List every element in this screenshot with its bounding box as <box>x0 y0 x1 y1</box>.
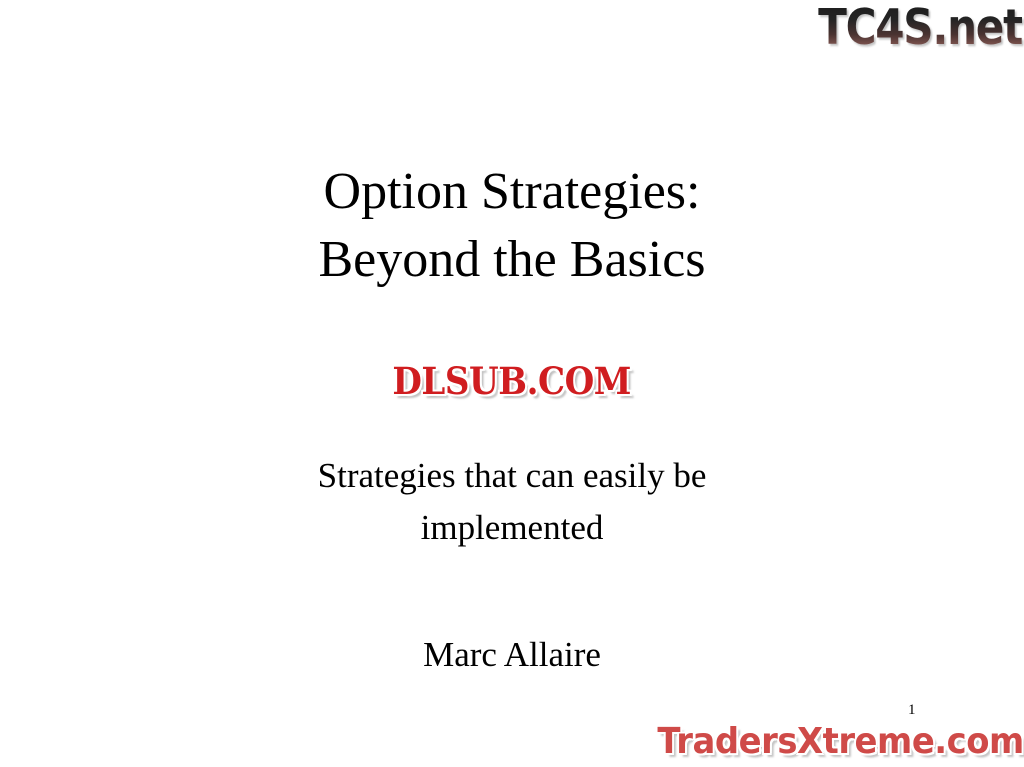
dlsub-watermark-logo[interactable]: DLSUB.COM <box>0 360 1024 402</box>
slide-subtitle-line-1: Strategies that can easily be <box>0 450 1024 502</box>
tradersxtreme-watermark-text: TradersXtreme.com <box>658 720 1024 764</box>
tc4s-watermark-logo[interactable]: TC4S.net <box>818 1 1022 55</box>
presentation-slide: TC4S.net Option Strategies: Beyond the B… <box>0 0 1024 767</box>
slide-subtitle-line-2: implemented <box>0 502 1024 554</box>
slide-subtitle: Strategies that can easily be implemente… <box>0 450 1024 554</box>
dlsub-watermark-text: DLSUB.COM <box>393 360 632 402</box>
tradersxtreme-watermark-logo[interactable]: TradersXtreme.com <box>634 720 1024 764</box>
slide-author: Marc Allaire <box>0 634 1024 676</box>
slide-title: Option Strategies: Beyond the Basics <box>0 158 1024 294</box>
slide-title-line-2: Beyond the Basics <box>0 226 1024 294</box>
slide-title-line-1: Option Strategies: <box>0 158 1024 226</box>
slide-page-number: 1 <box>908 703 916 718</box>
